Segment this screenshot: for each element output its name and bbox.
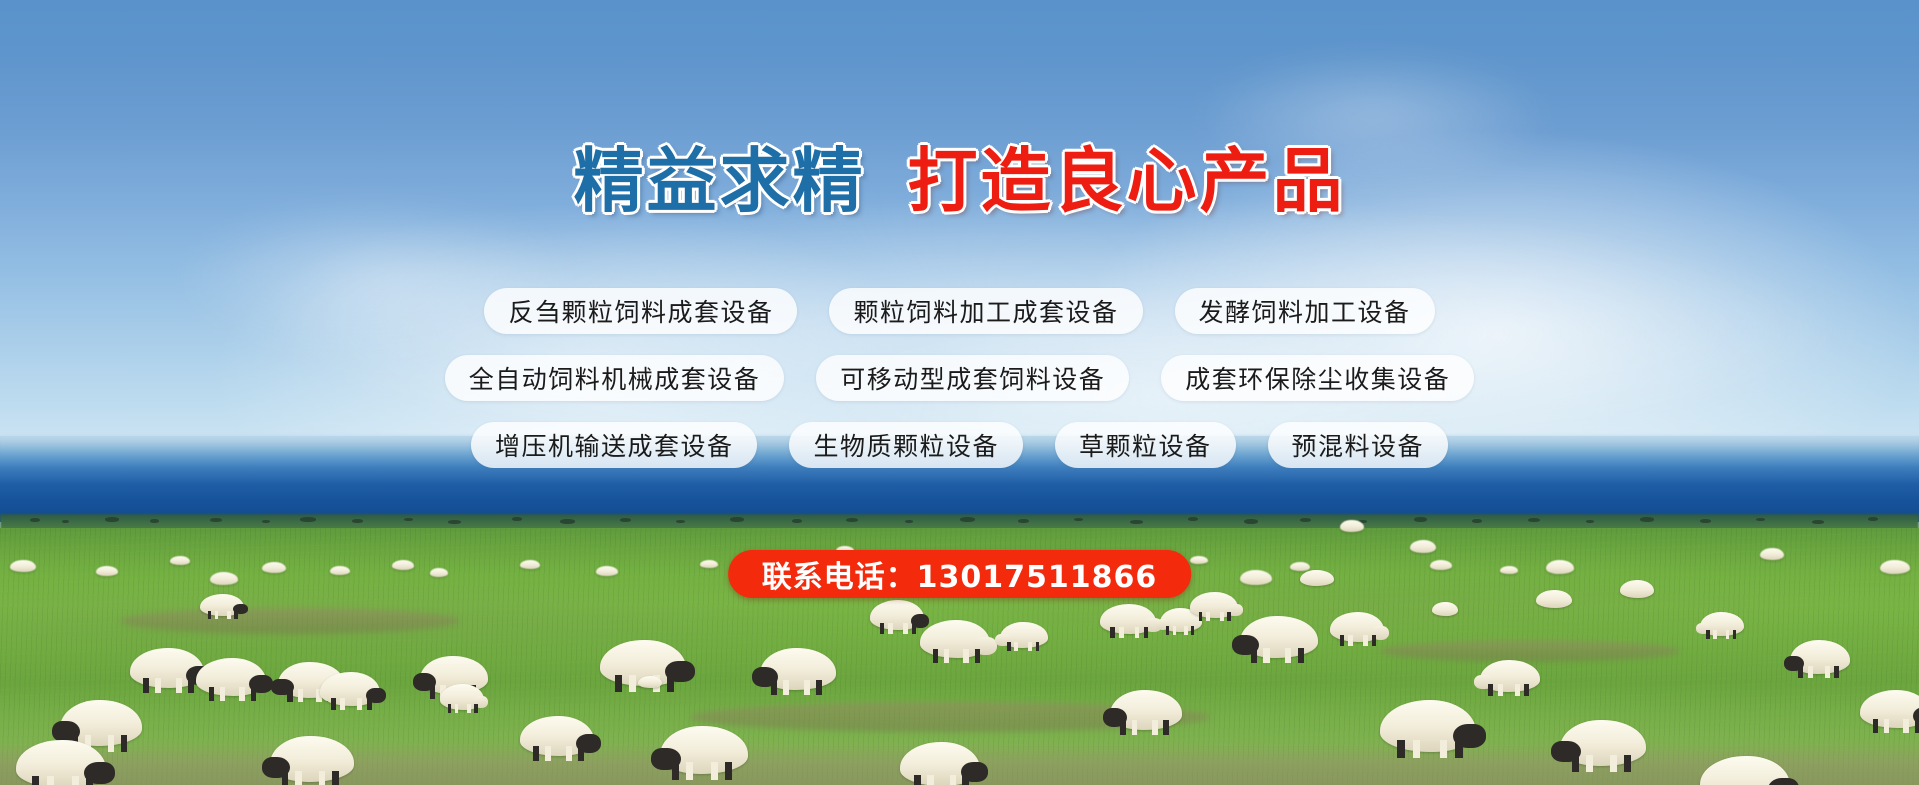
sheep-body [1760,548,1784,560]
sheep [900,742,980,785]
category-pill[interactable]: 预混料设备 [1268,422,1449,468]
sheep-leg [672,762,679,779]
dirt-patch [120,608,460,634]
sheep-leg [298,689,303,702]
sheep-body [392,560,414,570]
sheep-leg [1120,720,1126,734]
sheep-leg [287,689,292,702]
sheep-leg [1572,755,1579,772]
sheep-body [1410,540,1436,553]
sheep [262,562,286,573]
sheep-leg [188,678,194,692]
sheep-body [1880,560,1910,574]
sheep-leg [1173,626,1176,635]
sheep-leg [72,776,79,785]
sheep [1480,660,1540,692]
sheep [1410,540,1436,553]
promo-banner: 精益求精打造良心产品 反刍颗粒饲料成套设备颗粒饲料加工成套设备发酵饲料加工设备全… [0,0,1919,785]
sheep-leg [1132,720,1138,734]
sheep [1546,560,1574,574]
sheep [760,648,836,690]
category-pill[interactable]: 生物质颗粒设备 [789,422,1023,468]
category-pill[interactable]: 增压机输送成套设备 [471,422,758,468]
category-pill[interactable]: 可移动型成套饲料设备 [816,355,1129,401]
category-pill-row: 反刍颗粒饲料成套设备颗粒饲料加工成套设备发酵饲料加工设备 [0,288,1919,334]
sheep-body [700,560,718,568]
category-pill[interactable]: 草颗粒设备 [1055,422,1236,468]
sheep-leg [950,775,956,785]
sheep-leg [903,623,907,634]
sheep [1190,592,1238,618]
sheep-leg [686,762,693,779]
sheep-body [520,560,540,569]
sheep-leg [32,776,39,785]
sheep-leg [1808,666,1813,678]
sheep-leg [804,680,810,695]
sheep-body [638,676,662,688]
sheep-leg [963,649,969,663]
sheep-leg [234,611,238,619]
headline-red-text: 打造良心产品 [908,140,1346,222]
sheep-leg [227,611,231,619]
sheep-body [1860,690,1919,728]
sheep-body [96,566,118,576]
sheep-leg [1498,684,1503,696]
sheep-leg [1135,627,1139,638]
sheep-body [1300,570,1334,586]
sheep [130,648,204,688]
sheep [1240,570,1272,585]
sheep-leg [1834,666,1839,678]
sheep-leg [927,775,933,785]
sheep-leg [1713,630,1717,639]
sheep [1760,548,1784,560]
sheep-body [1430,560,1452,570]
sheep-leg [331,698,336,710]
sheep-leg [1733,630,1737,639]
sheep-leg [933,649,939,663]
sheep [1000,622,1048,648]
sheep [210,572,238,585]
sheep-leg [1036,642,1040,651]
sheep-leg [1014,642,1018,651]
sheep-leg [467,704,471,713]
category-pill-row: 全自动饲料机械成套设备可移动型成套饲料设备成套环保除尘收集设备 [0,355,1919,401]
sheep-body [330,566,350,575]
category-pill[interactable]: 成套环保除尘收集设备 [1161,355,1474,401]
sheep [1880,560,1910,574]
sheep-body [1432,602,1458,616]
headline-blue-text: 精益求精 [574,140,866,222]
sheep-leg [578,746,584,760]
sheep-leg [176,678,182,692]
sheep [170,556,190,565]
sheep-body [596,566,618,576]
sheep [1430,560,1452,570]
sheep [96,566,118,576]
sheep-leg [455,704,459,713]
sheep [392,560,414,570]
sheep-leg [357,698,362,710]
sheep-leg [1227,612,1231,621]
category-pill-groups: 反刍颗粒饲料成套设备颗粒饲料加工成套设备发酵饲料加工设备全自动饲料机械成套设备可… [0,288,1919,489]
sheep-leg [1440,740,1448,759]
category-pill[interactable]: 全自动饲料机械成套设备 [445,355,785,401]
sheep [1860,690,1919,728]
sheep-leg [711,762,718,779]
dirt-patch [1380,640,1680,662]
sheep-leg [367,698,372,710]
sheep-body [262,562,286,573]
sheep [1340,520,1364,532]
sheep-body [10,560,36,572]
sheep [1500,566,1518,574]
sheep [1110,690,1182,730]
sheep-leg [215,611,219,619]
sheep-leg [208,611,212,619]
sheep-leg [1199,612,1203,621]
sheep-leg [155,678,161,692]
sheep-leg [1825,666,1830,678]
sheep-leg [1488,684,1493,696]
contact-phone-button[interactable]: 联系电话：13017511866 [728,550,1192,598]
sheep-body [1536,590,1572,608]
sheep-leg [220,687,226,701]
sheep-leg [533,746,539,760]
sheep-leg [1903,719,1909,733]
sheep [16,740,106,785]
sheep-body [1240,570,1272,585]
sheep [320,672,380,706]
sheep-leg [1340,635,1344,646]
sheep-leg [1028,642,1032,651]
sheep [1432,602,1458,616]
sheep-leg [474,704,478,713]
sheep [270,736,354,782]
sheep-body [1190,556,1208,564]
sheep-leg [880,623,884,634]
sheep-leg [1110,627,1114,638]
sheep-leg [332,771,339,785]
sheep-leg [1884,719,1890,733]
sheep-body [210,572,238,585]
sheep [1700,756,1790,785]
sheep-body [1546,560,1574,574]
sheep-leg [1166,626,1169,635]
sheep-leg [430,685,435,699]
sheep-leg [1455,740,1463,759]
sheep-leg [566,746,572,760]
sheep-leg [1624,755,1631,772]
sheep-leg [1206,612,1210,621]
sheep-leg [282,771,289,785]
sheep-leg [1251,648,1257,663]
sheep-leg [1524,684,1529,696]
category-pill[interactable]: 颗粒饲料加工成套设备 [829,288,1142,334]
sheep [440,684,484,710]
sheep-leg [615,675,622,692]
sheep-leg [1515,684,1520,696]
sheep-leg [1119,627,1123,638]
sheep-body [1620,580,1654,598]
category-pill[interactable]: 发酵饲料加工设备 [1175,288,1435,334]
sheep-leg [725,762,732,779]
sheep-leg [888,623,892,634]
sheep [1700,612,1744,636]
sheep-leg [209,687,215,701]
sheep-leg [944,649,950,663]
sheep [596,566,618,576]
page-title: 精益求精打造良心产品 [0,146,1919,216]
sheep-body [1340,520,1364,532]
sheep [920,620,990,658]
sheep-leg [121,735,128,752]
sheep [430,568,448,577]
sheep-leg [1152,720,1158,734]
sheep-leg [1191,626,1194,635]
sheep [200,594,244,616]
sheep [700,560,718,568]
sheep-leg [667,675,674,692]
sheep-leg [914,775,920,785]
sheep-leg [86,776,93,785]
sheep-leg [251,687,257,701]
sheep [1240,616,1318,658]
sheep-leg [1363,635,1367,646]
sheep-leg [319,771,326,785]
sheep-leg [545,746,551,760]
sheep-body [430,568,448,577]
sheep-leg [143,678,149,692]
sheep-leg [1348,635,1352,646]
sheep-leg [1873,719,1879,733]
sheep-leg [975,649,981,663]
sheep-leg [295,771,302,785]
sheep-leg [1184,626,1187,635]
sheep-leg [962,775,968,785]
sheep-leg [448,704,452,713]
sheep-leg [1144,627,1148,638]
sheep-leg [1610,755,1617,772]
sheep [638,676,662,688]
sheep [1100,604,1156,634]
sheep [1380,700,1476,752]
sheep-leg [1263,648,1269,663]
sheep-leg [1372,635,1376,646]
sheep [1790,640,1850,674]
sheep-leg [47,776,54,785]
sheep [330,566,350,575]
sheep-leg [1220,612,1224,621]
sheep-leg [1726,630,1730,639]
sheep-leg [629,675,636,692]
sheep-leg [1397,740,1405,759]
sheep-leg [1163,720,1169,734]
sheep [10,560,36,572]
sheep [870,600,924,630]
sheep [520,716,594,756]
sheep [1560,720,1646,766]
sheep [520,560,540,569]
sheep-leg [1298,648,1304,663]
sheep-head [1768,778,1799,785]
sheep [1300,570,1334,586]
sheep-leg [340,698,345,710]
sheep-leg [912,623,916,634]
sheep-leg [783,680,789,695]
sheep-leg [1285,648,1291,663]
sheep-leg [239,687,245,701]
sheep-leg [816,680,822,695]
sheep [660,726,748,774]
sheep-leg [1586,755,1593,772]
sheep-leg [1007,642,1011,651]
sheep-body [1500,566,1518,574]
sheep [196,658,266,696]
sheep-leg [1706,630,1710,639]
sheep [1330,612,1384,642]
category-pill-row: 增压机输送成套设备生物质颗粒设备草颗粒设备预混料设备 [0,422,1919,468]
sheep [1536,590,1572,608]
sheep-leg [108,735,115,752]
category-pill[interactable]: 反刍颗粒饲料成套设备 [484,288,797,334]
sheep-leg [771,680,777,695]
sheep [1190,556,1208,564]
sheep-leg [1413,740,1421,759]
sheep-leg [1798,666,1803,678]
sheep-body [170,556,190,565]
sheep-leg [1915,719,1919,733]
sheep [1620,580,1654,598]
